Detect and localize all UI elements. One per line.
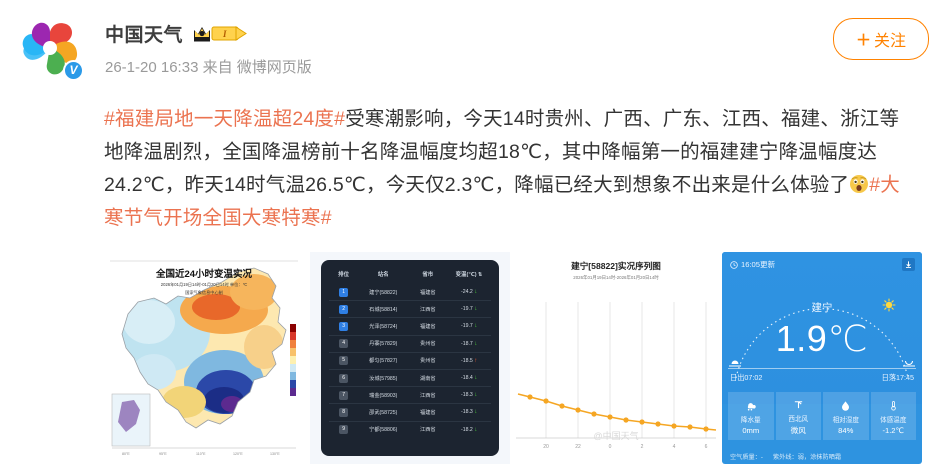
table-row: 2石城(58814)江西省-19.7 ↓ <box>329 301 491 318</box>
trend-down-icon: ↓ <box>474 323 477 329</box>
weather-sunrise: 日出07:02 <box>730 373 762 383</box>
rank-badge: 8 <box>339 408 348 417</box>
post-content: #福建局地一天降温超24度#受寒潮影响，今天14时贵州、广西、广东、江西、福建、… <box>104 103 916 235</box>
province-name: 贵州省 <box>408 352 447 369</box>
weather-sunset: 日落17:45 <box>882 373 914 383</box>
xtick-0: 0 <box>609 444 612 450</box>
rank-badge: 3 <box>339 322 348 331</box>
temp-change: -18.3 <box>461 409 473 415</box>
table-row: 1建宁(58822)福建省-24.2 ↓ <box>329 284 491 301</box>
hashtag-primary[interactable]: #福建局地一天降温超24度# <box>104 108 345 130</box>
rank-table-body: 1建宁(58822)福建省-24.2 ↓ 2石城(58814)江西省-19.7 … <box>329 284 491 438</box>
svg-text:120°E: 120°E <box>233 452 243 456</box>
svg-text:80°E: 80°E <box>122 452 130 456</box>
chart-watermark: @中国天气 <box>593 429 638 442</box>
post-subline: 26-1-20 16:33 来自 微博网页版 <box>105 56 312 77</box>
province-name: 湖南省 <box>408 369 447 386</box>
sunset-icon <box>902 358 916 368</box>
rank-badge: 5 <box>339 356 348 365</box>
weather-city-name: 建宁 <box>722 300 922 315</box>
weather-card-top: 16:05更新 <box>722 252 922 404</box>
chart-subtitle: 2026年01月19日14时-2026年01月20日14时 <box>516 275 716 281</box>
table-row: 3光泽(58724)福建省-19.7 ↓ <box>329 318 491 335</box>
wind-icon <box>793 398 804 410</box>
horizon-divider <box>728 368 916 369</box>
gallery-image-series-chart[interactable]: 建宁[58822]实况序列图 2026年01月19日14时-2026年01月20… <box>516 252 716 464</box>
station-name: 瑞金(58903) <box>358 387 408 404</box>
gallery-image-temperature-map[interactable]: 80°E95°E 110°E120°E130°E 全国近24小时变温实况 202… <box>104 252 304 464</box>
province-name: 江西省 <box>408 387 447 404</box>
col-rank: 排位 <box>329 266 358 284</box>
province-name: 贵州省 <box>408 335 447 352</box>
trend-down-icon: ↓ <box>474 427 477 433</box>
rank-badge: 9 <box>339 425 348 434</box>
weather-metric-wind: 西北风 微风 <box>776 392 822 440</box>
metric-value: 0mm <box>742 426 759 435</box>
air-quality-text: 空气质量：- <box>730 452 763 461</box>
uv-index-text: 紫外线：弱，涂抹防晒霜 <box>773 452 841 461</box>
post-meta: 中国天气 I 26-1-20 16:33 来自 微博网页版 <box>105 14 312 77</box>
xtick-22: 22 <box>575 444 581 450</box>
trend-down-icon: ↓ <box>474 392 477 398</box>
weather-metric-humidity: 相对湿度 84% <box>823 392 869 440</box>
humidity-icon <box>840 399 851 411</box>
temp-change: -18.2 <box>461 427 473 433</box>
col-station: 站名 <box>358 266 408 284</box>
rank-badge: 7 <box>339 391 348 400</box>
svg-text:130°E: 130°E <box>270 452 280 456</box>
xtick-6: 6 <box>705 444 708 450</box>
province-name: 福建省 <box>408 404 447 421</box>
col-province: 省市 <box>408 266 447 284</box>
temp-change: -18.5 <box>461 358 473 364</box>
rank-table-card: 排位 站名 省市 变温(℃) ⇅ 1建宁(58822)福建省-24.2 ↓ 2石… <box>321 260 499 456</box>
avatar[interactable]: V <box>16 14 84 82</box>
province-name: 福建省 <box>408 318 447 335</box>
table-row: 7瑞金(58903)江西省-18.3 ↓ <box>329 387 491 404</box>
post-timestamp: 26-1-20 16:33 <box>105 59 198 76</box>
shocked-face-emoji <box>849 172 869 192</box>
weather-metric-feels-like: 体感温度 -1.2℃ <box>871 392 917 440</box>
province-name: 江西省 <box>408 301 447 318</box>
station-name: 建宁(58822) <box>358 284 408 301</box>
trend-down-icon: ↓ <box>474 375 477 381</box>
rank-badge: 1 <box>339 288 348 297</box>
weibo-post: V 中国天气 I 26-1-20 16:33 <box>0 0 951 468</box>
table-row: 5都匀(57827)贵州省-18.5 ↑ <box>329 352 491 369</box>
chart-title: 建宁[58822]实况序列图 <box>516 260 716 272</box>
trend-down-icon: ↓ <box>474 306 477 312</box>
trend-down-icon: ↓ <box>474 289 477 295</box>
post-header: V 中国天气 I 26-1-20 16:33 <box>16 14 312 82</box>
follow-button[interactable]: ＋ 关注 <box>833 18 929 60</box>
table-row: 9宁都(58806)江西省-18.2 ↓ <box>329 421 491 438</box>
image-gallery: 80°E95°E 110°E120°E130°E 全国近24小时变温实况 202… <box>104 252 922 464</box>
weather-card-footer: 空气质量：- 紫外线：弱，涂抹防晒霜 <box>730 452 914 461</box>
table-row: 8邵武(58725)福建省-18.3 ↓ <box>329 404 491 421</box>
thermometer-icon <box>888 399 899 411</box>
follow-label: 关注 <box>874 27 906 51</box>
metric-value: -1.2℃ <box>882 426 904 435</box>
xtick-4: 4 <box>673 444 676 450</box>
province-name: 江西省 <box>408 421 447 438</box>
metric-label: 西北风 <box>788 413 808 423</box>
trend-up-icon: ↑ <box>474 358 477 364</box>
metric-label: 体感温度 <box>880 414 906 424</box>
svg-text:95°E: 95°E <box>159 452 167 456</box>
metric-value: 微风 <box>791 425 806 436</box>
crown-icon: I <box>192 24 248 43</box>
map-title-block: 全国近24小时变温实况 2026年01月19日14时-01月20日14时 单位：… <box>104 266 304 297</box>
metric-label: 降水量 <box>741 414 761 424</box>
table-row: 4丹寨(57829)贵州省-18.7 ↓ <box>329 335 491 352</box>
verified-badge: V <box>63 60 84 81</box>
xtick-20: 20 <box>543 444 549 450</box>
username-row: 中国天气 I <box>105 20 312 47</box>
map-subtitle-1: 2026年01月19日14时-01月20日14时 单位：℃ <box>104 282 304 288</box>
temp-change: -19.7 <box>461 306 473 312</box>
trend-down-icon: ↓ <box>474 341 477 347</box>
username[interactable]: 中国天气 <box>105 20 183 47</box>
svg-text:110°E: 110°E <box>196 452 206 456</box>
station-name: 汝城(57985) <box>358 369 408 386</box>
weather-temperature: 1.9℃ <box>722 318 922 360</box>
svg-text:I: I <box>222 29 227 39</box>
map-title: 全国近24小时变温实况 <box>104 266 304 280</box>
metric-label: 相对湿度 <box>833 414 859 424</box>
vip-crown-badge[interactable]: I <box>192 25 248 43</box>
rank-table: 排位 站名 省市 变温(℃) ⇅ 1建宁(58822)福建省-24.2 ↓ 2石… <box>329 266 491 438</box>
temp-change: -24.2 <box>461 289 473 295</box>
temp-change: -18.3 <box>461 392 473 398</box>
station-name: 宁都(58806) <box>358 421 408 438</box>
weather-metric-precipitation: 降水量 0mm <box>728 392 774 440</box>
table-row: 6汝城(57985)湖南省-18.4 ↓ <box>329 369 491 386</box>
station-name: 丹寨(57829) <box>358 335 408 352</box>
station-name: 光泽(58724) <box>358 318 408 335</box>
rank-badge: 2 <box>339 305 348 314</box>
metric-value: 84% <box>838 426 853 435</box>
plus-icon: ＋ <box>856 29 871 50</box>
temp-change: -18.7 <box>461 341 473 347</box>
rank-badge: 6 <box>339 374 348 383</box>
gallery-image-weather-card[interactable]: 16:05更新 <box>722 252 922 464</box>
weather-metrics-row: 降水量 0mm 西北风 微风 相对湿度 84% <box>728 392 916 440</box>
rain-icon <box>745 399 756 411</box>
col-temp-change[interactable]: 变温(℃) ⇅ <box>447 266 491 284</box>
source-prefix: 来自 <box>203 59 233 76</box>
post-source[interactable]: 微博网页版 <box>237 59 312 76</box>
xtick-2: 2 <box>641 444 644 450</box>
rank-badge: 4 <box>339 339 348 348</box>
gallery-image-rank-table[interactable]: 排位 站名 省市 变温(℃) ⇅ 1建宁(58822)福建省-24.2 ↓ 2石… <box>310 252 510 464</box>
sunrise-icon <box>728 358 742 368</box>
temp-change: -18.4 <box>461 375 473 381</box>
chart-title-block: 建宁[58822]实况序列图 2026年01月19日14时-2026年01月20… <box>516 252 716 281</box>
station-name: 邵武(58725) <box>358 404 408 421</box>
temp-change: -19.7 <box>461 323 473 329</box>
station-name: 都匀(57827) <box>358 352 408 369</box>
station-name: 石城(58814) <box>358 301 408 318</box>
table-header-row: 排位 站名 省市 变温(℃) ⇅ <box>329 266 491 284</box>
trend-down-icon: ↓ <box>474 409 477 415</box>
province-name: 福建省 <box>408 284 447 301</box>
map-subtitle-2: 国家气象信息中心制 <box>104 290 304 296</box>
